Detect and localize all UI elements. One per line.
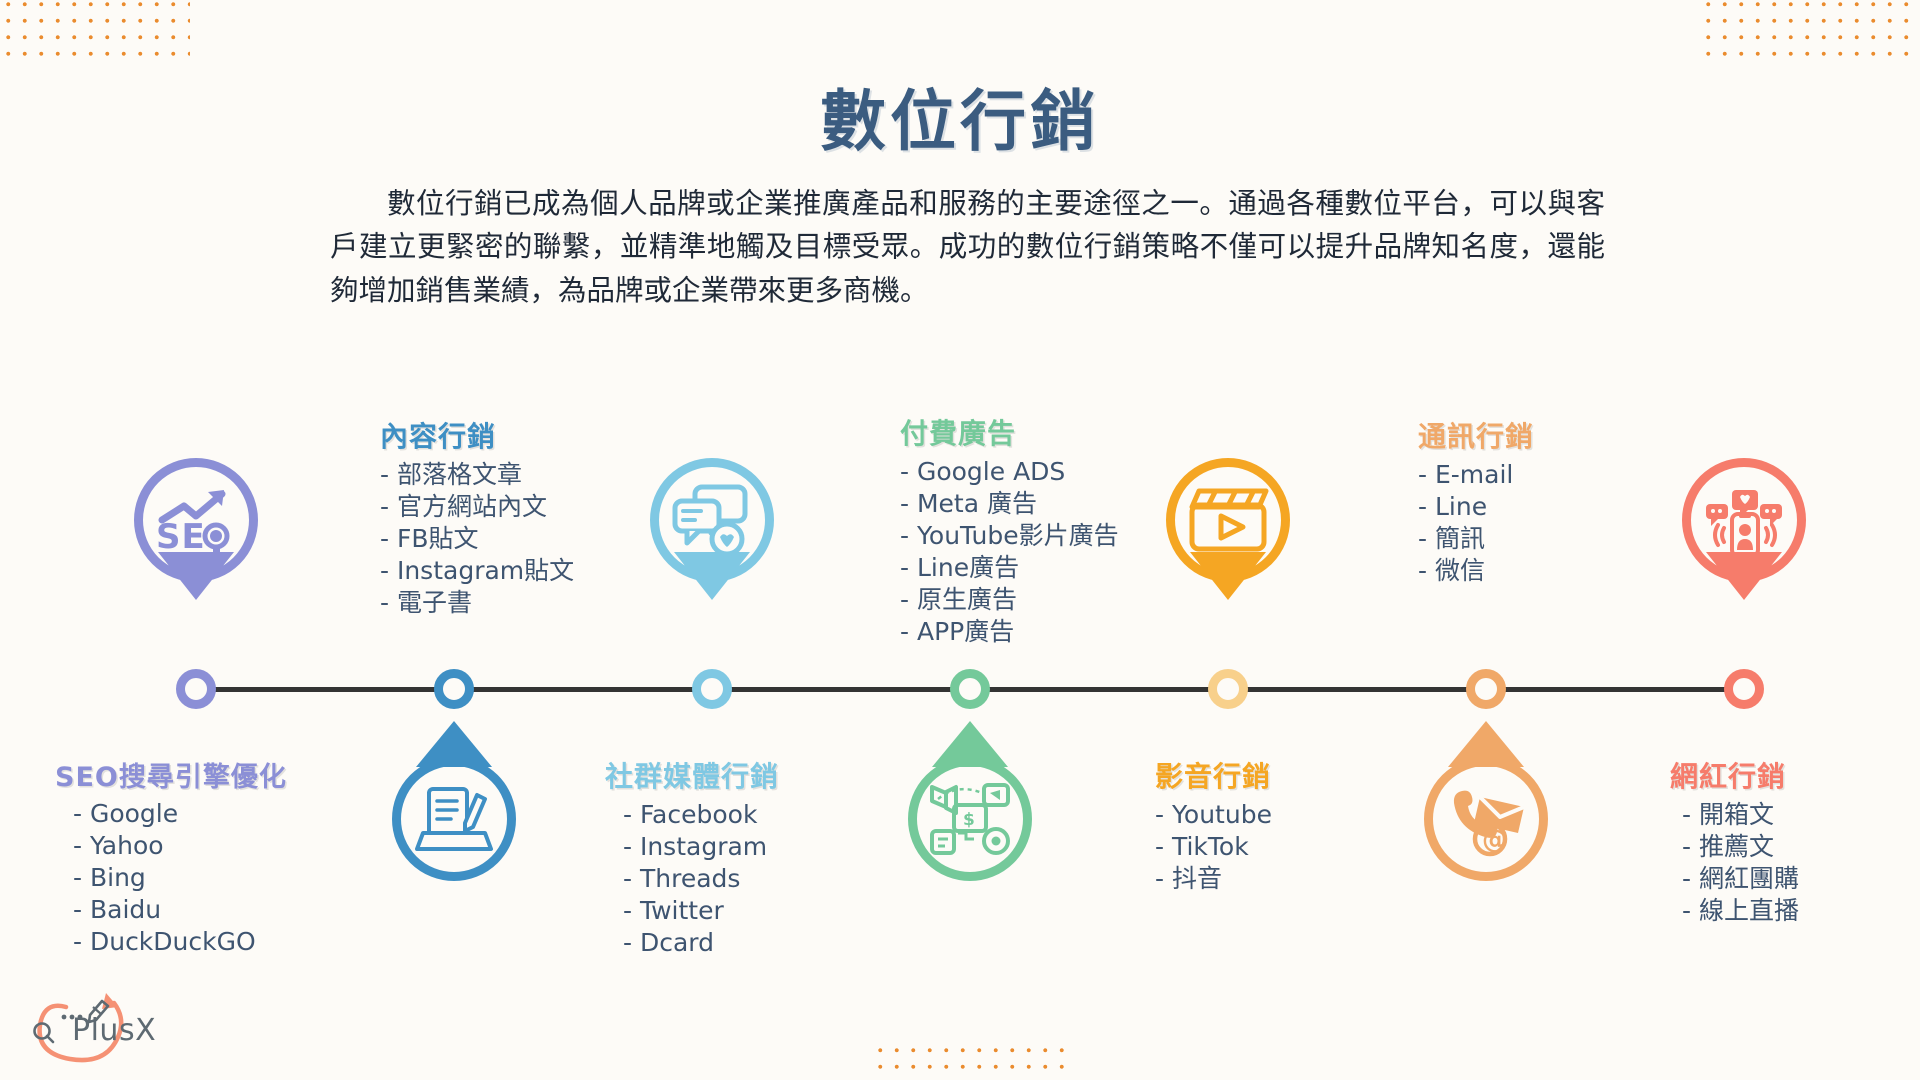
list-item: Twitter (623, 895, 779, 927)
section-list-influencer: 開箱文 推薦文 網紅團購 線上直播 (1670, 799, 1799, 927)
pin-content-laptop[interactable] (392, 757, 516, 881)
section-list-messaging: E-mail Line 簡訊 微信 (1418, 459, 1534, 587)
list-item: Baidu (73, 894, 287, 926)
timeline-node-video (1208, 669, 1248, 709)
list-item: Threads (623, 863, 779, 895)
influencer-phone-heart-icon (1682, 458, 1806, 582)
page-title: 數位行銷 (0, 68, 1920, 164)
list-item: E-mail (1418, 459, 1534, 491)
timeline-node-seo (176, 669, 216, 709)
dot-pattern-bottom-center (872, 1042, 1072, 1080)
section-content: 內容行銷 部落格文章 官方網站內文 FB貼文 Instagram貼文 電子書 (380, 415, 574, 619)
section-seo: SEO搜尋引擎優化 Google Yahoo Bing Baidu DuckDu… (55, 755, 287, 958)
list-item: 推薦文 (1682, 831, 1799, 863)
section-heading-influencer: 網紅行銷 (1670, 755, 1799, 795)
plusx-wordmark: PlusX (72, 1013, 156, 1048)
svg-text:@: @ (1482, 825, 1508, 855)
timeline-node-influencer (1724, 669, 1764, 709)
list-item: TikTok (1155, 831, 1272, 863)
list-item: Google (73, 798, 287, 830)
section-video: 影音行銷 Youtube TikTok 抖音 (1155, 755, 1272, 895)
svg-text:$: $ (963, 810, 975, 830)
list-item: Yahoo (73, 830, 287, 862)
list-item: 開箱文 (1682, 799, 1799, 831)
section-paid: 付費廣告 Google ADS Meta 廣告 YouTube影片廣告 Line… (900, 412, 1119, 648)
section-heading-social: 社群媒體行銷 (605, 755, 779, 795)
list-item: 部落格文章 (380, 459, 574, 491)
timeline-node-social (692, 669, 732, 709)
timeline-node-content (434, 669, 474, 709)
intro-paragraph: 數位行銷已成為個人品牌或企業推廣產品和服務的主要途徑之一。通過各種數位平台，可以… (330, 182, 1605, 312)
list-item: YouTube影片廣告 (900, 520, 1119, 552)
paid-ads-megaphone-icon: $ (908, 757, 1032, 881)
list-item: APP廣告 (900, 616, 1119, 648)
list-item: Line廣告 (900, 552, 1119, 584)
dot-pattern-top-left (0, 0, 190, 58)
list-item: 網紅團購 (1682, 863, 1799, 895)
list-item: 抖音 (1155, 863, 1272, 895)
list-item: Google ADS (900, 456, 1119, 488)
pin-paid-ads[interactable]: $ (908, 757, 1032, 881)
pin-seo[interactable]: SE (134, 458, 258, 582)
list-item: FB貼文 (380, 523, 574, 555)
plusx-logo: PlusX (20, 985, 190, 1070)
section-heading-video: 影音行銷 (1155, 755, 1272, 795)
section-heading-messaging: 通訊行銷 (1418, 415, 1534, 455)
section-social: 社群媒體行銷 Facebook Instagram Threads Twitte… (605, 755, 779, 959)
section-influencer: 網紅行銷 開箱文 推薦文 網紅團購 線上直播 (1670, 755, 1799, 927)
section-heading-content: 內容行銷 (380, 415, 574, 455)
social-chat-bubbles-icon (650, 458, 774, 582)
list-item: Facebook (623, 799, 779, 831)
section-list-content: 部落格文章 官方網站內文 FB貼文 Instagram貼文 電子書 (380, 459, 574, 619)
list-item: Instagram貼文 (380, 555, 574, 587)
timeline-node-paid (950, 669, 990, 709)
list-item: 原生廣告 (900, 584, 1119, 616)
section-list-social: Facebook Instagram Threads Twitter Dcard (605, 799, 779, 959)
list-item: Bing (73, 862, 287, 894)
list-item: Youtube (1155, 799, 1272, 831)
list-item: 官方網站內文 (380, 491, 574, 523)
list-item: 簡訊 (1418, 523, 1534, 555)
video-clapperboard-icon (1166, 458, 1290, 582)
timeline-node-messaging (1466, 669, 1506, 709)
pin-messaging[interactable]: @ (1424, 757, 1548, 881)
list-item: Meta 廣告 (900, 488, 1119, 520)
section-list-video: Youtube TikTok 抖音 (1155, 799, 1272, 895)
section-heading-paid: 付費廣告 (900, 412, 1119, 452)
list-item: 微信 (1418, 555, 1534, 587)
section-messaging: 通訊行銷 E-mail Line 簡訊 微信 (1418, 415, 1534, 587)
seo-growth-icon: SE (134, 458, 258, 582)
pin-video[interactable] (1166, 458, 1290, 582)
list-item: 電子書 (380, 587, 574, 619)
infographic-canvas: 數位行銷 數位行銷已成為個人品牌或企業推廣產品和服務的主要途徑之一。通過各種數位… (0, 0, 1920, 1080)
dot-pattern-top-right (1700, 0, 1920, 66)
list-item: 線上直播 (1682, 895, 1799, 927)
pin-influencer[interactable] (1682, 458, 1806, 582)
list-item: Line (1418, 491, 1534, 523)
list-item: DuckDuckGO (73, 926, 287, 958)
section-list-paid: Google ADS Meta 廣告 YouTube影片廣告 Line廣告 原生… (900, 456, 1119, 648)
list-item: Dcard (623, 927, 779, 959)
section-heading-seo: SEO搜尋引擎優化 (55, 755, 287, 794)
section-list-seo: Google Yahoo Bing Baidu DuckDuckGO (55, 798, 287, 958)
content-laptop-pen-icon (392, 757, 516, 881)
list-item: Instagram (623, 831, 779, 863)
svg-text:SE: SE (156, 517, 206, 557)
pin-content[interactable] (650, 458, 774, 582)
mail-phone-at-icon: @ (1424, 757, 1548, 881)
